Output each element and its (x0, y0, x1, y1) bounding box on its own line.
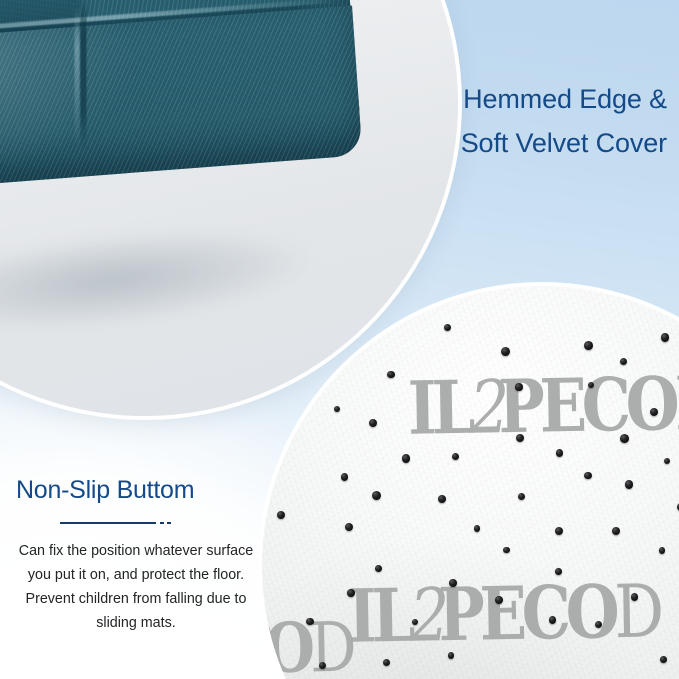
cushion-corner-fold (80, 0, 86, 150)
anti-slip-dot (503, 547, 510, 554)
title-divider (0, 515, 272, 531)
feature-headline-right: Hemmed Edge & Soft Velvet Cover (461, 78, 667, 165)
anti-slip-dot (341, 473, 348, 480)
corner-fold-highlight (75, 6, 80, 144)
anti-slip-dot (555, 568, 561, 574)
anti-slip-dot (549, 616, 556, 623)
anti-slip-dot (438, 495, 446, 503)
body-line-1: Can fix the position whatever surface (14, 539, 258, 563)
headline-line-2: Soft Velvet Cover (461, 122, 667, 166)
anti-slip-dot-layer (262, 286, 679, 679)
feature-title-non-slip: Non-Slip Buttom (0, 476, 272, 505)
anti-slip-dot (660, 656, 666, 662)
anti-slip-dot (620, 358, 627, 365)
anti-slip-dot (449, 579, 457, 587)
anti-slip-dot (448, 652, 455, 659)
anti-slip-dot (412, 619, 419, 626)
anti-slip-dot (620, 434, 629, 443)
anti-slip-dot (347, 589, 354, 596)
anti-slip-dot (659, 547, 665, 553)
cushion-side-band (0, 6, 362, 200)
product-feature-image: IL2PECOD2ODIL2PECOD Hemmed Edge & Soft V… (0, 0, 679, 679)
feature-body-non-slip: Can fix the position whatever surface yo… (0, 539, 272, 635)
feature-block-left: Non-Slip Buttom Can fix the position wha… (0, 476, 272, 635)
anti-slip-dot (664, 458, 670, 464)
anti-slip-dot (650, 408, 658, 416)
anti-slip-dot (375, 565, 382, 572)
anti-slip-dot (515, 383, 522, 390)
divider-line (60, 522, 156, 524)
mat-photo-circle: IL2PECOD2ODIL2PECOD (262, 286, 679, 679)
anti-slip-dot (625, 480, 633, 488)
divider-dash-1 (160, 522, 164, 524)
anti-slip-dot (612, 527, 620, 535)
body-line-3: Prevent children from falling due to (14, 587, 258, 611)
anti-slip-dot (372, 491, 381, 500)
anti-slip-dot (501, 347, 510, 356)
anti-slip-dot (556, 449, 564, 457)
anti-slip-dot (661, 333, 669, 341)
anti-slip-dot (306, 618, 314, 626)
anti-slip-dot (495, 596, 503, 604)
body-line-4: sliding mats. (14, 611, 258, 635)
divider-dash-2 (167, 522, 171, 524)
anti-slip-dot (584, 341, 593, 350)
anti-slip-dot (518, 493, 525, 500)
anti-slip-dot (319, 662, 326, 669)
anti-slip-dot (402, 454, 411, 463)
anti-slip-dot (584, 472, 591, 479)
headline-line-1: Hemmed Edge & (461, 78, 667, 122)
anti-slip-dot (383, 659, 390, 666)
anti-slip-dot (345, 523, 353, 531)
anti-slip-dot (595, 621, 602, 628)
anti-slip-dot (444, 324, 451, 331)
anti-slip-dot (334, 406, 341, 413)
anti-slip-dot (452, 453, 459, 460)
anti-slip-dot (369, 419, 378, 428)
anti-slip-dot (555, 527, 564, 536)
anti-slip-dot (474, 525, 481, 532)
anti-slip-dot (631, 593, 638, 600)
anti-slip-dot (387, 371, 394, 378)
anti-slip-dot (588, 382, 594, 388)
body-line-2: you put it on, and protect the floor. (14, 563, 258, 587)
anti-slip-dot (516, 434, 524, 442)
anti-slip-dot (277, 511, 285, 519)
